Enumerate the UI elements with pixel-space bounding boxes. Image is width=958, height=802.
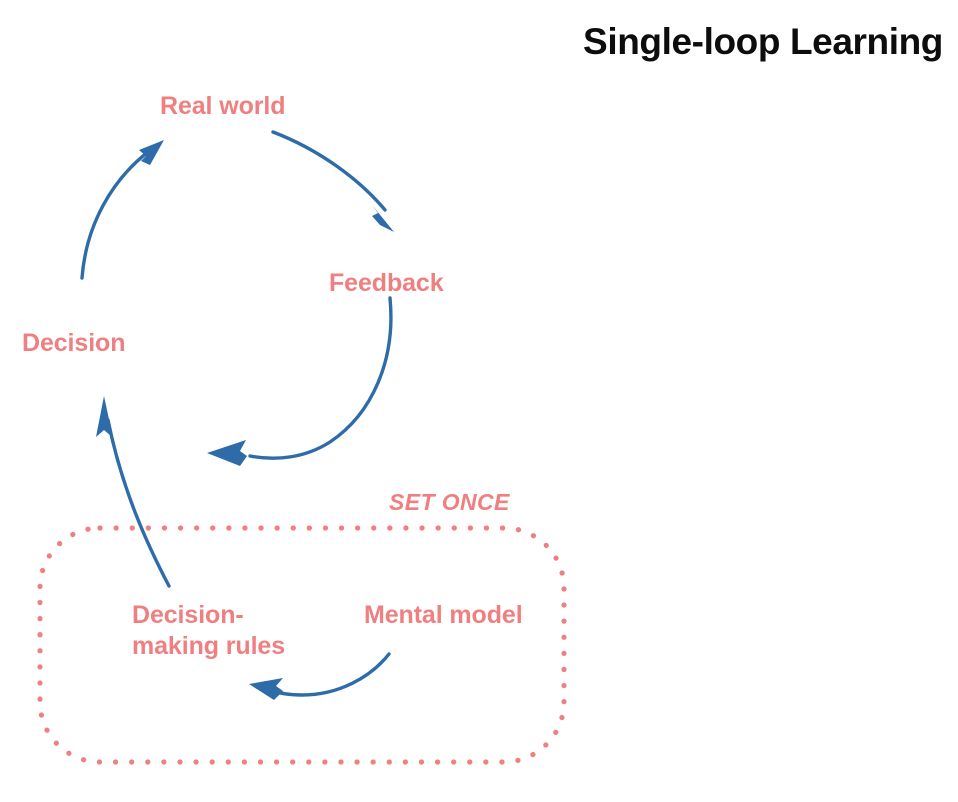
edge-real-world-to-feedback [273,132,394,232]
node-label-mental-model: Mental model [364,600,523,631]
edge-feedback-to-decision-rules [207,298,391,466]
node-label-feedback: Feedback [329,268,444,299]
diagram-canvas: Single-loop Learning Real world Feedback… [0,0,958,802]
node-label-decision: Decision [22,328,125,359]
diagram-graphics [0,0,958,802]
node-label-real-world: Real world [160,91,285,122]
node-label-decision-making-rules-line2: making rules [132,632,285,660]
page-title: Single-loop Learning [583,20,943,64]
edge-decision-rules-to-decision [96,396,169,586]
node-label-decision-making-rules-line1: Decision- [132,601,244,629]
group-label-set-once: SET ONCE [389,487,510,518]
edge-decision-to-real-world [82,140,164,278]
node-label-decision-making-rules: Decision-making rules [132,600,285,662]
set-once-group-border [40,528,564,762]
